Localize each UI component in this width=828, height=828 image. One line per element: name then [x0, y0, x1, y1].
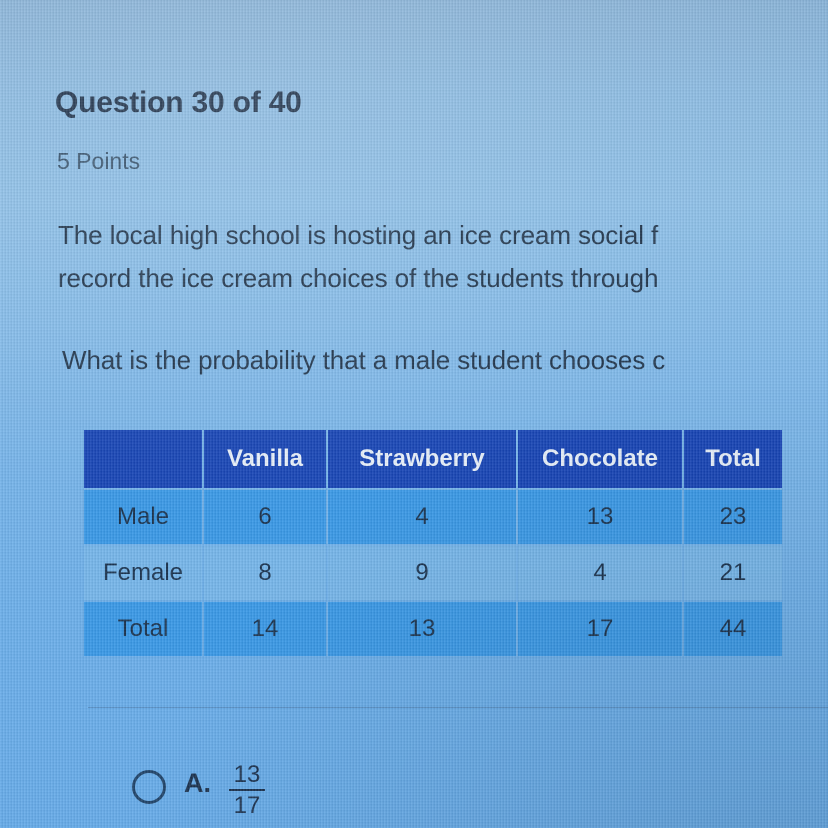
answer-option-a-letter: A.	[184, 768, 211, 799]
points-label: 5 Points	[57, 148, 140, 175]
cell-total-vanilla: 14	[204, 602, 326, 656]
fraction-bar	[229, 789, 265, 791]
cell-female-strawberry: 9	[328, 546, 516, 600]
cell-female-vanilla: 8	[204, 546, 326, 600]
prompt-text-line-2: record the ice cream choices of the stud…	[58, 263, 658, 294]
answers-divider	[88, 707, 828, 708]
table-header: Vanilla Strawberry Chocolate Total	[84, 430, 782, 488]
cell-male-strawberry: 4	[328, 490, 516, 544]
cell-female-chocolate: 4	[518, 546, 682, 600]
answer-option-a[interactable]: A. 13 17	[132, 760, 265, 818]
row-label-total: Total	[84, 602, 202, 656]
table-row: Male 6 4 13 23	[84, 490, 782, 544]
table-row: Total 14 13 17 44	[84, 602, 782, 656]
column-header-total: Total	[684, 430, 782, 488]
cell-male-vanilla: 6	[204, 490, 326, 544]
column-header-chocolate: Chocolate	[518, 430, 682, 488]
column-header-vanilla: Vanilla	[204, 430, 326, 488]
column-header-strawberry: Strawberry	[328, 430, 516, 488]
table-row: Female 8 9 4 21	[84, 546, 782, 600]
question-content: Question 30 of 40 5 Points The local hig…	[0, 0, 828, 828]
table-body: Male 6 4 13 23 Female 8 9 4 21 Total 14 …	[84, 490, 782, 656]
cell-total-chocolate: 17	[518, 602, 682, 656]
cell-male-total: 23	[684, 490, 782, 544]
answer-option-a-fraction: 13 17	[229, 762, 265, 818]
prompt-text-line-1: The local high school is hosting an ice …	[58, 220, 658, 251]
row-label-male: Male	[84, 490, 202, 544]
photographed-screen: Question 30 of 40 5 Points The local hig…	[0, 0, 828, 828]
two-way-frequency-table: Vanilla Strawberry Chocolate Total Male …	[82, 428, 784, 658]
cell-male-chocolate: 13	[518, 490, 682, 544]
page-title: Question 30 of 40	[55, 86, 302, 120]
answer-a-denominator: 17	[230, 793, 265, 818]
cell-total-strawberry: 13	[328, 602, 516, 656]
cell-total-total: 44	[684, 602, 782, 656]
radio-button-a-icon[interactable]	[132, 770, 166, 804]
answer-a-numerator: 13	[230, 762, 265, 787]
row-label-female: Female	[84, 546, 202, 600]
table-corner-cell	[84, 430, 202, 488]
cell-female-total: 21	[684, 546, 782, 600]
prompt-question-text: What is the probability that a male stud…	[62, 345, 665, 376]
table-header-row: Vanilla Strawberry Chocolate Total	[84, 430, 782, 488]
